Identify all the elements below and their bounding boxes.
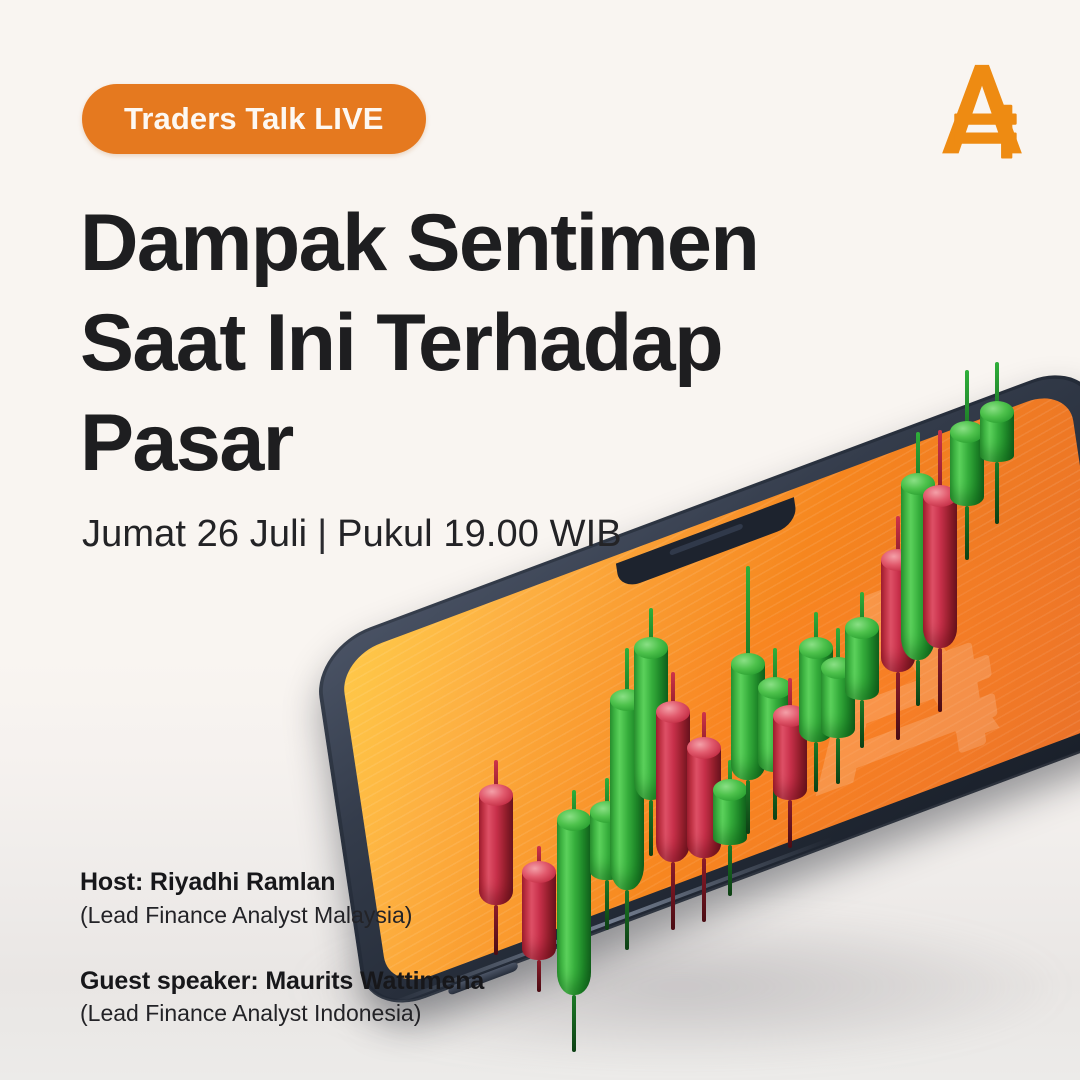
- credit-host: Host: Riyadhi Ramlan (Lead Finance Analy…: [80, 866, 484, 932]
- event-schedule: Jumat 26 Juli|Pukul 19.00 WIB: [82, 513, 622, 556]
- event-time: Pukul 19.00 WIB: [337, 513, 622, 555]
- guest-role: (Lead Finance Analyst Indonesia): [80, 997, 484, 1030]
- schedule-separator: |: [307, 513, 337, 555]
- speaker-credits: Host: Riyadhi Ramlan (Lead Finance Analy…: [80, 866, 484, 1031]
- host-role: (Lead Finance Analyst Malaysia): [80, 899, 484, 932]
- event-date: Jumat 26 Juli: [82, 513, 307, 555]
- brand-a-monogram-icon: [930, 60, 1034, 160]
- headline-line-3: Pasar: [80, 393, 840, 493]
- page-title: Dampak Sentimen Saat Ini Terhadap Pasar: [80, 193, 840, 493]
- headline-line-2: Saat Ini Terhadap: [80, 293, 840, 393]
- guest-name: Guest speaker: Maurits Wattimena: [80, 965, 484, 998]
- host-name: Host: Riyadhi Ramlan: [80, 866, 484, 899]
- credit-guest: Guest speaker: Maurits Wattimena (Lead F…: [80, 965, 484, 1031]
- live-badge[interactable]: Traders Talk LIVE: [82, 84, 426, 154]
- headline-line-1: Dampak Sentimen: [80, 193, 840, 293]
- poster-content: Traders Talk LIVE Dampak Sentimen Saat I…: [0, 0, 1080, 1080]
- promo-poster: Traders Talk LIVE Dampak Sentimen Saat I…: [0, 0, 1080, 1080]
